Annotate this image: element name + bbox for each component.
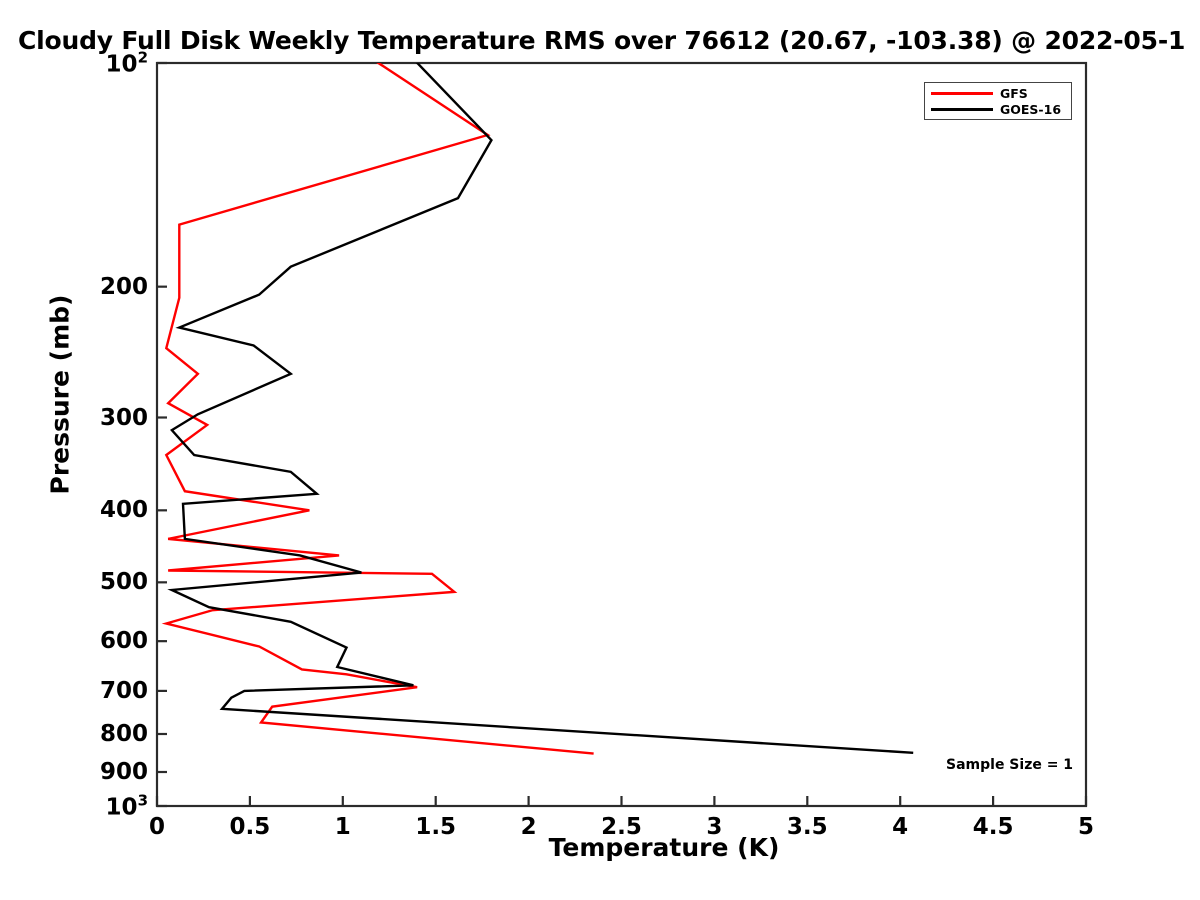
series-line-goes-16 [172,40,913,753]
y-tick-label: 300 [40,405,148,431]
y-tick-label: 102 [40,49,148,78]
x-tick-label: 1.5 [415,814,456,840]
legend-swatch-gfs [931,92,993,95]
legend-label-gfs: GFS [1000,86,1028,101]
x-tick-label: 3.5 [787,814,828,840]
legend-item-goes16: GOES-16 [931,102,1061,117]
y-tick-label: 900 [40,759,148,785]
x-tick-label: 4 [892,814,908,840]
legend-label-goes16: GOES-16 [1000,102,1061,117]
x-tick-label: 5 [1078,814,1094,840]
y-tick-label: 103 [40,792,148,821]
y-tick-label: 800 [40,721,148,747]
x-tick-label: 2 [521,814,537,840]
x-tick-label: 0.5 [230,814,271,840]
y-tick-label: 600 [40,628,148,654]
y-tick-label: 700 [40,678,148,704]
y-tick-label: 500 [40,569,148,595]
sample-size-annotation: Sample Size = 1 [946,757,1073,773]
y-tick-label: 200 [40,274,148,300]
legend: GFS GOES-16 [924,82,1072,120]
x-tick-label: 2.5 [601,814,642,840]
y-tick-label: 400 [40,497,148,523]
x-axis-label-text: Temperature (K) [549,833,780,862]
x-axis-label: Temperature (K) [0,833,1200,862]
x-tick-label: 3 [706,814,722,840]
data-series [166,40,913,754]
axes-frame [157,63,1086,806]
x-tick-label: 1 [335,814,351,840]
legend-item-gfs: GFS [931,86,1028,101]
x-tick-label: 0 [149,814,165,840]
x-tick-label: 4.5 [973,814,1014,840]
series-line-gfs [166,40,593,754]
axis-ticks [157,63,1086,806]
figure: Cloudy Full Disk Weekly Temperature RMS … [0,0,1200,900]
legend-swatch-goes16 [931,108,993,111]
